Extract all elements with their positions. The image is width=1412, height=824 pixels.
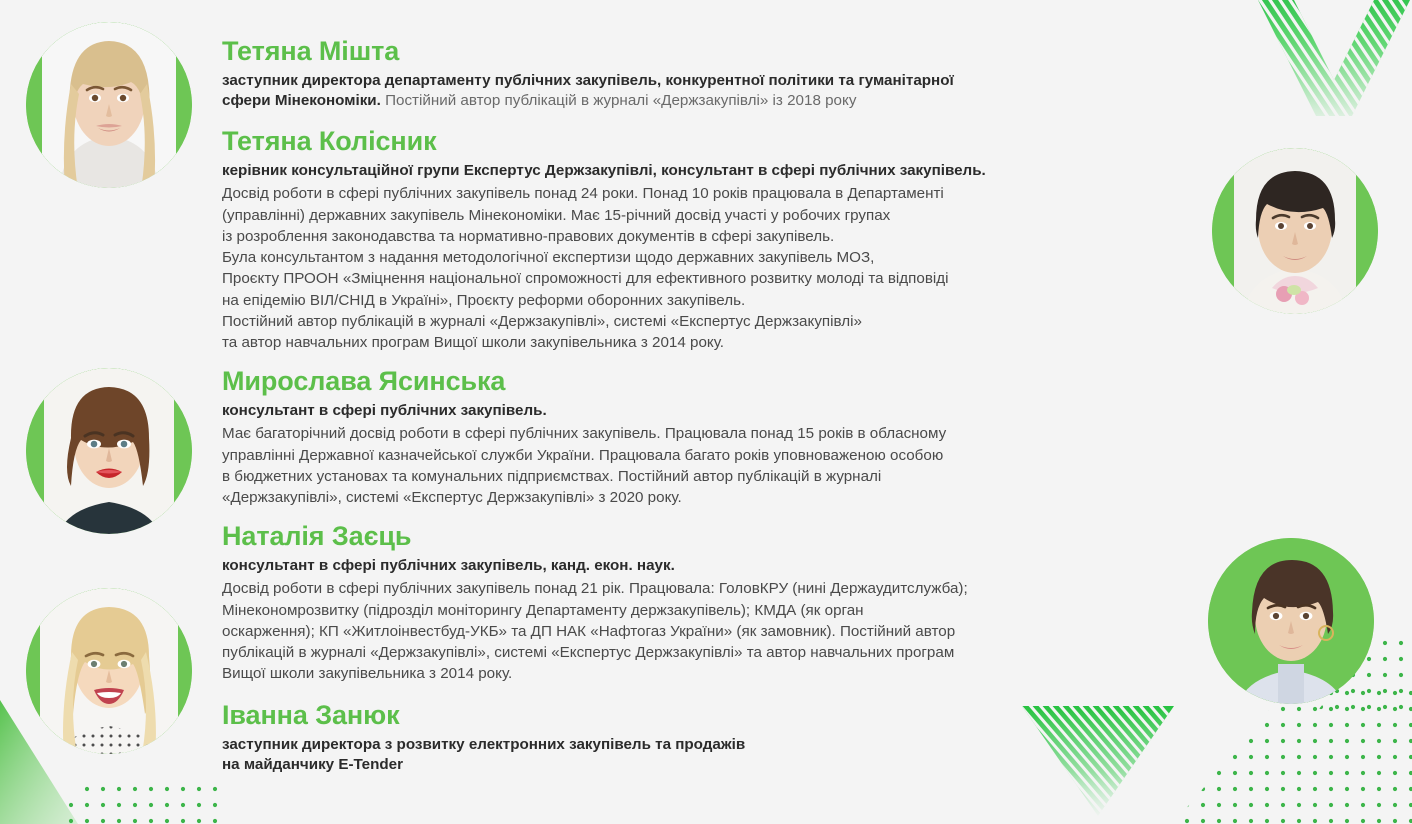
speaker-block-ivanna-zaniuk: Іванна Занюк заступник директора з розви… xyxy=(222,700,1212,776)
speaker-block-tetiana-mishta: Тетяна Мішта заступник директора департа… xyxy=(222,36,1212,112)
speaker-block-myroslava-yasynska: Мирослава Ясинська консультант в сфері п… xyxy=(222,366,1212,508)
speaker-role: консультант в сфері публічних закупівель… xyxy=(222,401,1212,421)
avatar-photo xyxy=(26,22,192,188)
desc-line: управлінні Державної казначейської служб… xyxy=(222,445,1212,466)
desc-line: та автор навчальних програм Вищої школи … xyxy=(222,332,1212,353)
speaker-role-tail: Постійний автор публікацій в журналі «Де… xyxy=(381,92,857,109)
speaker-role-line: консультант в сфері публічних закупівель… xyxy=(222,557,675,574)
desc-line: Досвід роботи в сфері публічних закупіве… xyxy=(222,578,1212,599)
dot-grid-bottom-left-icon xyxy=(52,786,228,824)
avatar-ivanna-zaniuk xyxy=(26,588,192,754)
desc-line: Проєкту ПРООН «Зміцнення національної сп… xyxy=(222,268,1212,289)
avatar-photo xyxy=(26,588,192,754)
avatar-photo xyxy=(1212,148,1378,314)
desc-line: Мінекономрозвитку (підрозділ моніторингу… xyxy=(222,600,1212,621)
desc-line: Була консультантом з надання методологіч… xyxy=(222,247,1212,268)
speaker-role-line: сфери Мінекономіки. xyxy=(222,92,381,109)
desc-line: Має багаторічний досвід роботи в сфері п… xyxy=(222,423,1212,444)
speaker-description: Має багаторічний досвід роботи в сфері п… xyxy=(222,423,1212,508)
speaker-role: заступник директора департаменту публічн… xyxy=(222,71,1212,112)
speaker-name: Мирослава Ясинська xyxy=(222,366,1212,398)
speaker-description: Досвід роботи в сфері публічних закупіве… xyxy=(222,183,1212,353)
avatar-photo xyxy=(26,368,192,534)
avatar-tetiana-kolisnyk xyxy=(1212,148,1378,314)
speaker-role-line: керівник консультаційної групи Експертус… xyxy=(222,162,986,179)
desc-line: Постійний автор публікацій в журналі «Де… xyxy=(222,311,1212,332)
avatar-tetiana-mishta xyxy=(26,22,192,188)
speaker-role: консультант в сфері публічних закупівель… xyxy=(222,556,1212,576)
desc-line: «Держзакупівлі», системі «Експертус Держ… xyxy=(222,487,1212,508)
speaker-role-line: заступник директора департаменту публічн… xyxy=(222,72,954,89)
speaker-role: заступник директора з розвитку електронн… xyxy=(222,735,1212,776)
avatar-myroslava-yasynska xyxy=(26,368,192,534)
speaker-role: керівник консультаційної групи Експертус… xyxy=(222,161,1212,181)
avatar-photo xyxy=(1208,538,1374,704)
speaker-name: Іванна Занюк xyxy=(222,700,1212,732)
desc-line: публікацій в журналі «Держзакупівлі», си… xyxy=(222,642,1212,663)
desc-line: на епідемію ВІЛ/СНІД в Україні», Проєкту… xyxy=(222,290,1212,311)
speaker-name: Тетяна Мішта xyxy=(222,36,1212,68)
desc-line: (управлінні) державних закупівель Мінеко… xyxy=(222,205,1212,226)
speaker-block-tetiana-kolisnyk: Тетяна Колісник керівник консультаційної… xyxy=(222,126,1212,353)
desc-line: Вищої школи закупівельника з 2014 року. xyxy=(222,663,1212,684)
desc-line: із розроблення законодавства та норматив… xyxy=(222,226,1212,247)
chevron-stripes-icon xyxy=(1246,0,1412,116)
speaker-role-line: заступник директора з розвитку електронн… xyxy=(222,736,745,753)
avatar-nataliia-zaiets xyxy=(1208,538,1374,704)
desc-line: Досвід роботи в сфері публічних закупіве… xyxy=(222,183,1212,204)
desc-line: в бюджетних установах та комунальних під… xyxy=(222,466,1212,487)
speaker-name: Наталія Заєць xyxy=(222,521,1212,553)
speaker-block-nataliia-zaiets: Наталія Заєць консультант в сфері публіч… xyxy=(222,521,1212,685)
speaker-role-line: консультант в сфері публічних закупівель… xyxy=(222,402,547,419)
slide-root: Тетяна Мішта заступник директора департа… xyxy=(0,0,1412,824)
speaker-description: Досвід роботи в сфері публічних закупіве… xyxy=(222,578,1212,684)
speaker-name: Тетяна Колісник xyxy=(222,126,1212,158)
desc-line: оскарження); КП «Житлоінвестбуд-УКБ» та … xyxy=(222,621,1212,642)
speaker-role-line: на майданчику E-Tender xyxy=(222,756,403,773)
